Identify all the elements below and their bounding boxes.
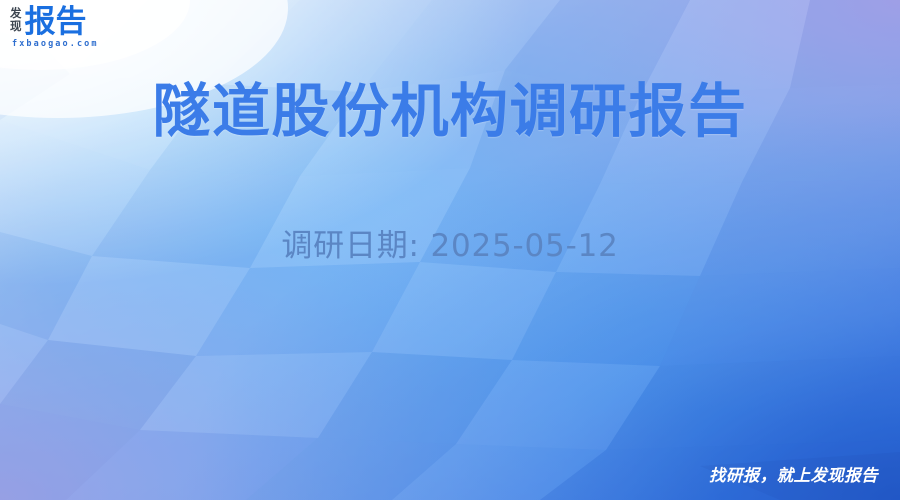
report-cover: 发 现 报告 fxbaogao.com 隧道股份机构调研报告 调研日期: 202…	[0, 0, 900, 500]
brand-logo[interactable]: 发 现 报告	[10, 8, 87, 37]
logo-url-text: fxbaogao.com	[11, 39, 99, 49]
background-lowpoly	[0, 0, 900, 500]
logo-mark-char-2: 现	[10, 21, 22, 34]
logo-wordmark-group: 发 现 报告	[10, 8, 87, 37]
logo-mark-fa-xian: 发 现	[10, 8, 22, 37]
logo-wordmark-text: 报告	[25, 8, 87, 37]
logo-url-wrap: fxbaogao.com	[11, 37, 99, 49]
footer-slogan: 找研报，就上发现报告	[709, 462, 878, 486]
